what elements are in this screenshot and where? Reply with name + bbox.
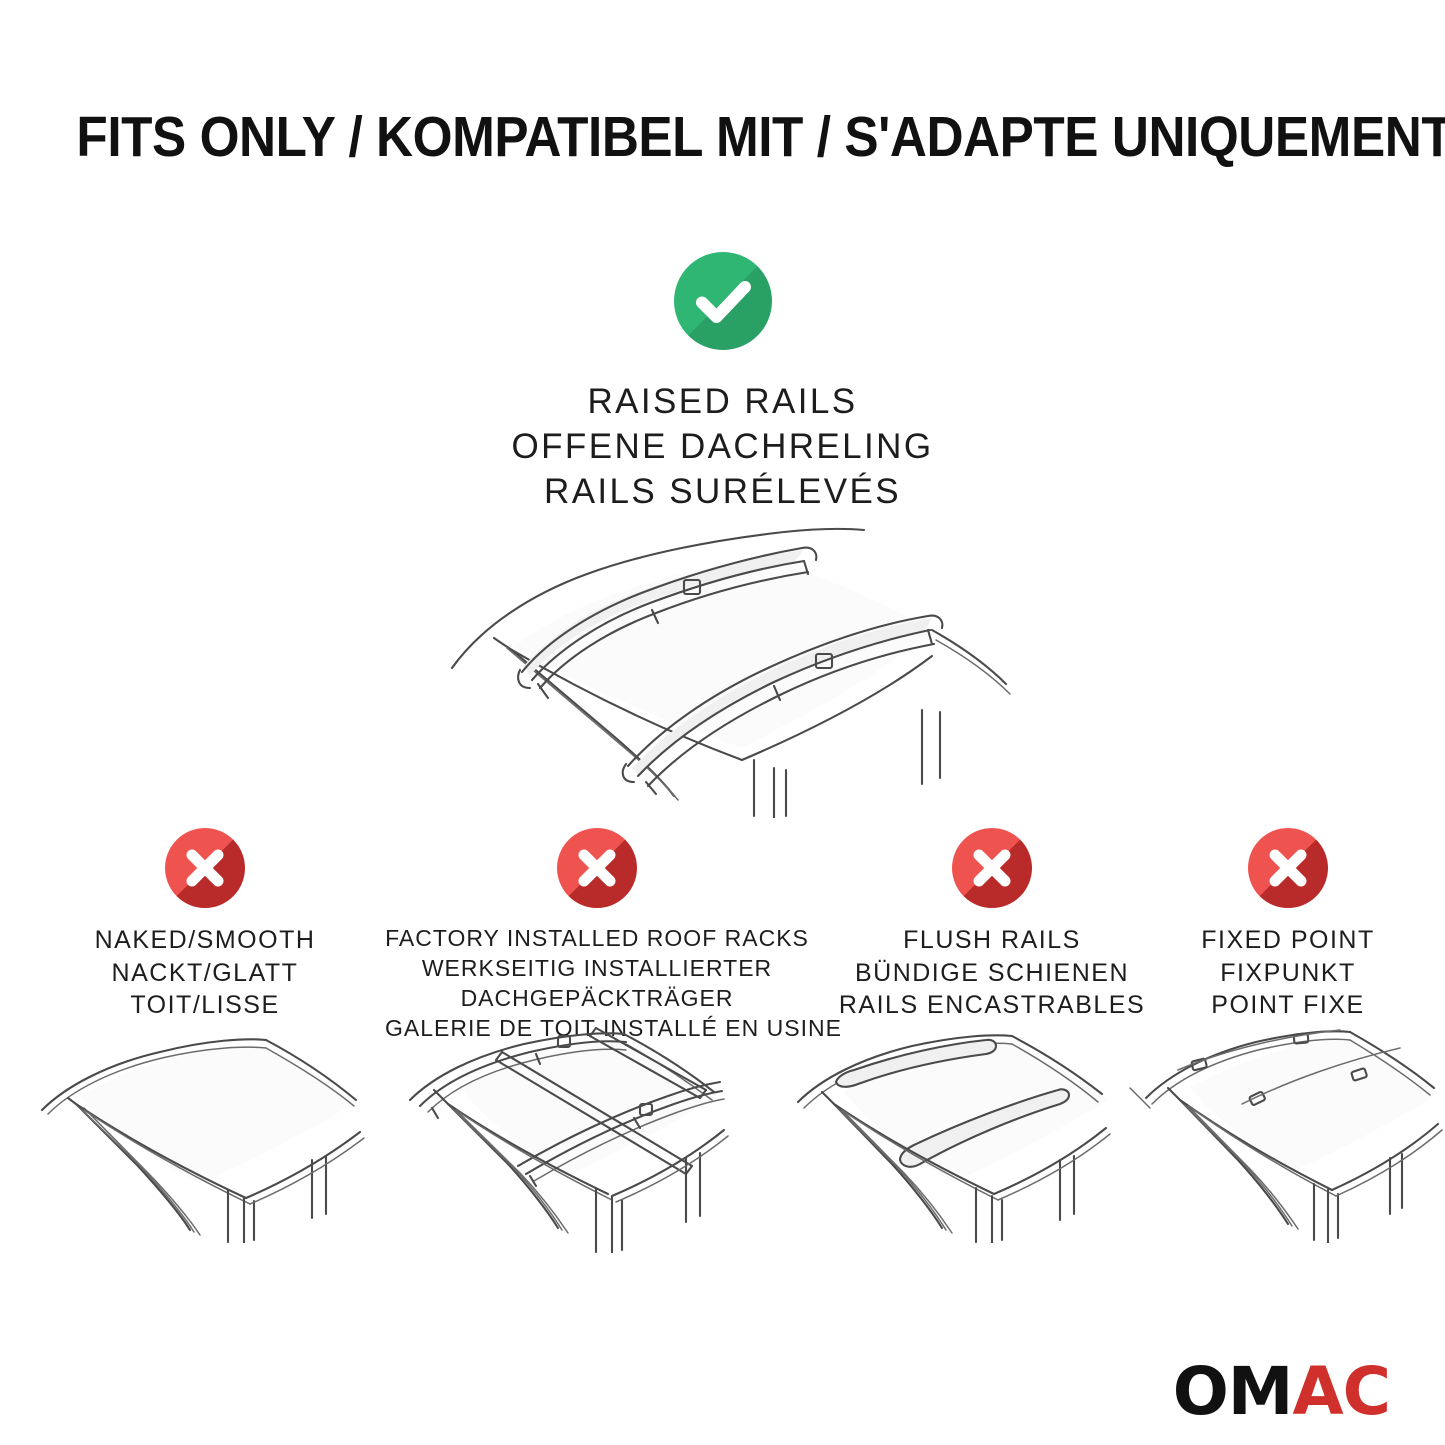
label-de: FIXPUNKT bbox=[1150, 957, 1426, 990]
x-circle-icon bbox=[165, 828, 245, 908]
fitment-infographic: FITS ONLY / KOMPATIBEL MIT / S'ADAPTE UN… bbox=[0, 0, 1445, 1445]
compatible-caption: RAISED RAILS OFFENE DACHRELING RAILS SUR… bbox=[0, 380, 1445, 514]
label-de-1: WERKSEITIG INSTALLIERTER bbox=[385, 954, 809, 984]
x-mark-glyph bbox=[557, 828, 637, 908]
x-mark-glyph bbox=[1248, 828, 1328, 908]
x-circle-icon bbox=[1248, 828, 1328, 908]
page-title: FITS ONLY / KOMPATIBEL MIT / S'ADAPTE UN… bbox=[0, 108, 1445, 168]
car-roof-naked-illustration bbox=[20, 1018, 380, 1243]
incompatible-caption-naked-smooth: NAKED/SMOOTH NACKT/GLATT TOIT/LISSE bbox=[25, 924, 385, 1022]
label-en: FLUSH RAILS bbox=[815, 924, 1169, 957]
label-fr: RAILS ENCASTRABLES bbox=[815, 989, 1169, 1022]
car-roof-flush-rails-illustration bbox=[772, 1018, 1152, 1243]
compatible-label-en: RAISED RAILS bbox=[0, 380, 1445, 425]
check-mark-glyph bbox=[674, 252, 772, 350]
label-de: BÜNDIGE SCHIENEN bbox=[815, 957, 1169, 990]
incompatible-item-factory-roof-racks: FACTORY INSTALLED ROOF RACKS WERKSEITIG … bbox=[385, 828, 809, 1044]
omac-logo: OMAC bbox=[1173, 1359, 1390, 1425]
label-en: FIXED POINT bbox=[1150, 924, 1426, 957]
label-fr: POINT FIXE bbox=[1150, 989, 1426, 1022]
car-roof-fixed-point-illustration bbox=[1132, 1018, 1445, 1243]
omac-logo-dark: OM bbox=[1173, 1353, 1293, 1430]
label-de-2: DACHGEPÄCKTRÄGER bbox=[385, 984, 809, 1014]
incompatible-caption-flush-rails: FLUSH RAILS BÜNDIGE SCHIENEN RAILS ENCAS… bbox=[815, 924, 1169, 1022]
incompatible-caption-fixed-point: FIXED POINT FIXPUNKT POINT FIXE bbox=[1150, 924, 1426, 1022]
compatible-label-de: OFFENE DACHRELING bbox=[0, 425, 1445, 470]
label-de: NACKT/GLATT bbox=[25, 957, 385, 990]
check-circle-icon bbox=[674, 252, 772, 350]
label-en: FACTORY INSTALLED ROOF RACKS bbox=[385, 924, 809, 954]
label-en: NAKED/SMOOTH bbox=[25, 924, 385, 957]
x-mark-glyph bbox=[165, 828, 245, 908]
x-circle-icon bbox=[557, 828, 637, 908]
compatible-section: RAISED RAILS OFFENE DACHRELING RAILS SUR… bbox=[0, 252, 1445, 514]
x-circle-icon bbox=[952, 828, 1032, 908]
car-roof-raised-rails-illustration bbox=[412, 498, 1052, 818]
car-roof-factory-racks-illustration bbox=[390, 1018, 775, 1253]
incompatible-item-naked-smooth: NAKED/SMOOTH NACKT/GLATT TOIT/LISSE bbox=[25, 828, 385, 1022]
x-mark-glyph bbox=[952, 828, 1032, 908]
label-fr: TOIT/LISSE bbox=[25, 989, 385, 1022]
page-title-text: FITS ONLY / KOMPATIBEL MIT / S'ADAPTE UN… bbox=[76, 108, 1445, 168]
incompatible-item-fixed-point: FIXED POINT FIXPUNKT POINT FIXE bbox=[1150, 828, 1426, 1022]
omac-logo-red: AC bbox=[1292, 1353, 1390, 1430]
incompatible-item-flush-rails: FLUSH RAILS BÜNDIGE SCHIENEN RAILS ENCAS… bbox=[815, 828, 1169, 1022]
